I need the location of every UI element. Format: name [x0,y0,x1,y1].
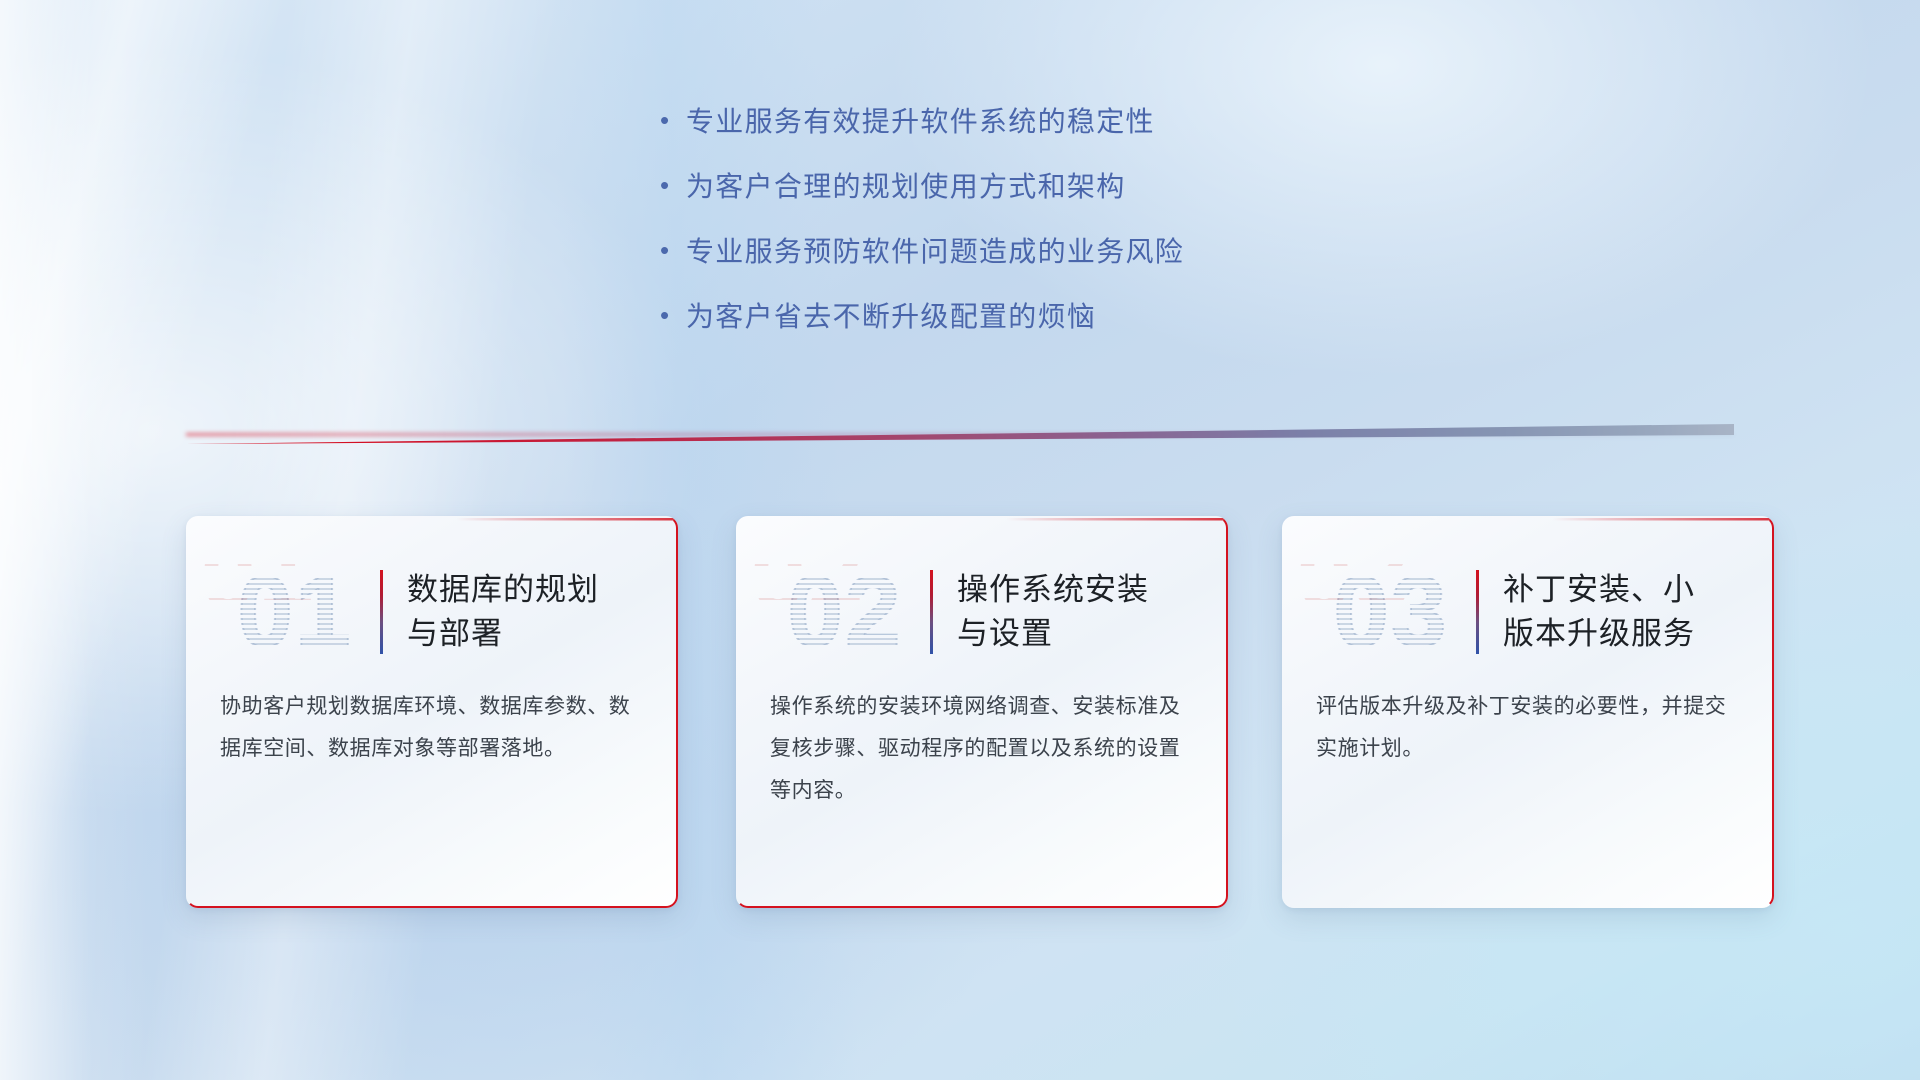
card-title: 操作系统安装 与设置 [957,568,1149,656]
card-body-text: 协助客户规划数据库环境、数据库参数、数据库空间、数据库对象等部署落地。 [186,686,678,770]
bullet-marker-icon: • [660,233,686,267]
bullet-marker-icon: • [660,298,686,332]
card-header: 02 02 操作系统安装 与设置 [736,516,1228,692]
list-item: • 专业服务有效提升软件系统的稳定性 [660,105,1420,139]
card-divider-bar [380,570,383,654]
card-header: 03 03 补丁安装、小 版本升级服务 [1282,516,1774,692]
card-header: 01 01 数据库的规划 与部署 [186,516,678,692]
list-item: • 为客户合理的规划使用方式和架构 [660,170,1420,204]
card-number-ghost: 02 [733,516,883,634]
service-card-02[interactable]: 02 02 操作系统安装 与设置 操作系统的安装环境网络调查、安装标准及复核步骤… [736,516,1228,908]
card-group: 01 01 数据库的规划 与部署 协助客户规划数据库环境、数据库参数、数据库空间… [0,516,1920,916]
card-divider-bar [1476,570,1479,654]
bullet-text: 专业服务预防软件问题造成的业务风险 [686,235,1184,269]
bullet-text: 为客户合理的规划使用方式和架构 [686,170,1126,204]
section-divider [186,424,1734,444]
bullet-list: • 专业服务有效提升软件系统的稳定性 • 为客户合理的规划使用方式和架构 • 专… [660,105,1420,365]
card-divider-bar [930,570,933,654]
bullet-text: 专业服务有效提升软件系统的稳定性 [686,105,1155,139]
card-body-text: 操作系统的安装环境网络调查、安装标准及复核步骤、驱动程序的配置以及系统的设置等内… [736,686,1228,812]
card-body-text: 评估版本升级及补丁安装的必要性，并提交实施计划。 [1282,686,1774,770]
card-number-ghost: 01 [183,516,333,634]
list-item: • 专业服务预防软件问题造成的业务风险 [660,235,1420,269]
service-card-01[interactable]: 01 01 数据库的规划 与部署 协助客户规划数据库环境、数据库参数、数据库空间… [186,516,678,908]
bullet-text: 为客户省去不断升级配置的烦恼 [686,300,1096,334]
card-number-ghost: 03 [1279,516,1429,634]
card-title: 数据库的规划 与部署 [407,568,599,656]
bullet-marker-icon: • [660,168,686,202]
service-card-03[interactable]: 03 03 补丁安装、小 版本升级服务 评估版本升级及补丁安装的必要性，并提交实… [1282,516,1774,908]
slide-canvas: • 专业服务有效提升软件系统的稳定性 • 为客户合理的规划使用方式和架构 • 专… [0,0,1920,1080]
card-title: 补丁安装、小 版本升级服务 [1503,568,1695,656]
bullet-marker-icon: • [660,103,686,137]
list-item: • 为客户省去不断升级配置的烦恼 [660,300,1420,334]
